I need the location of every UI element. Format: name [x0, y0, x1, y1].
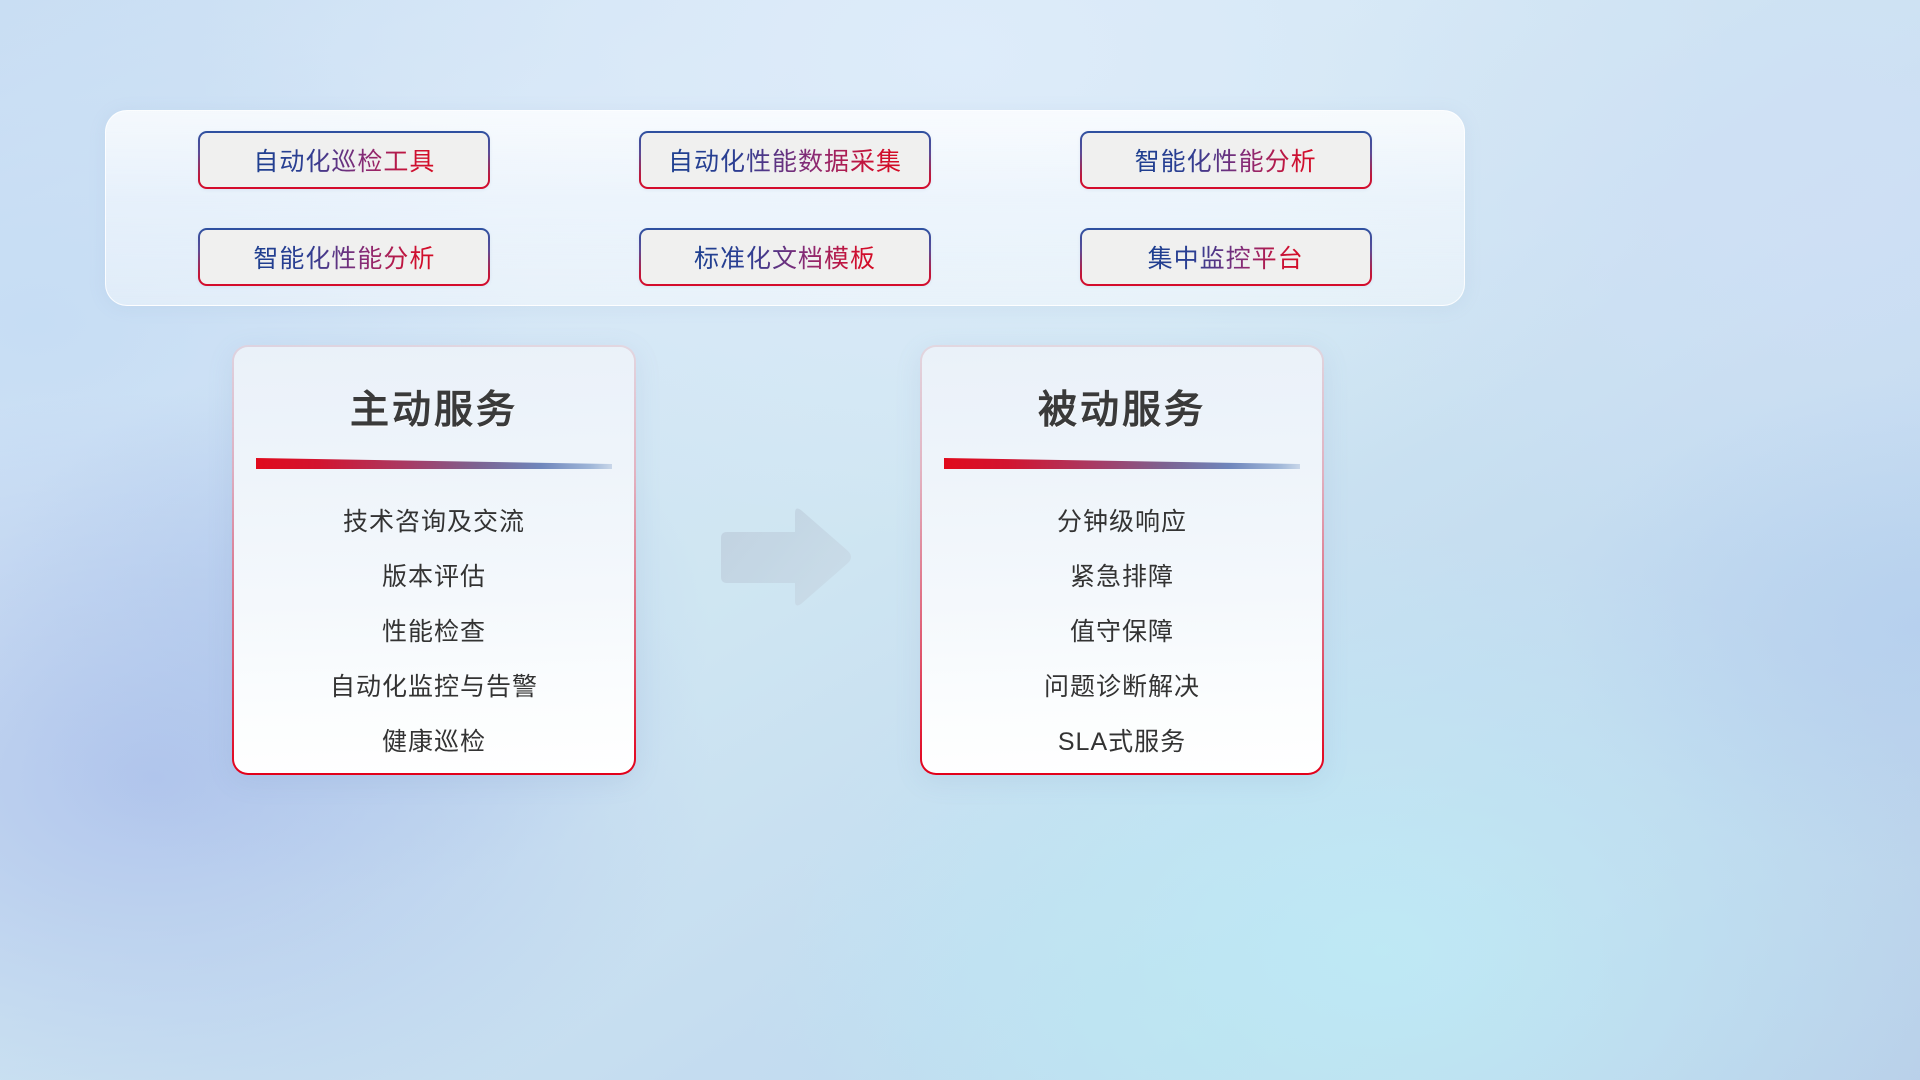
divider-bar — [944, 458, 1300, 469]
active-service-list: 技术咨询及交流 版本评估 性能检查 自动化监控与告警 健康巡检 — [234, 495, 634, 770]
list-item[interactable]: 性能检查 — [382, 605, 486, 660]
list-item[interactable]: 版本评估 — [382, 550, 486, 605]
list-item[interactable]: 紧急排障 — [1070, 550, 1174, 605]
capability-panel: 自动化巡检工具 自动化性能数据采集 智能化性能分析 智能化性能分析 标准化文档模… — [105, 110, 1465, 306]
arrow-right-icon — [715, 505, 855, 610]
capability-pill[interactable]: 自动化巡检工具 — [198, 131, 490, 189]
active-service-card: 主动服务 技术咨询及交流 版本评估 性能检查 自动化监控与告警 健康巡检 — [232, 345, 636, 775]
title-divider — [256, 458, 612, 469]
capability-pill[interactable]: 标准化文档模板 — [639, 228, 931, 286]
capability-pill-label: 智能化性能分析 — [1135, 142, 1317, 178]
list-item[interactable]: SLA式服务 — [1058, 715, 1186, 770]
capability-pill[interactable]: 自动化性能数据采集 — [639, 131, 931, 189]
list-item[interactable]: 值守保障 — [1070, 605, 1174, 660]
capability-pill-label: 自动化性能数据采集 — [668, 142, 902, 178]
capability-pill-label: 标准化文档模板 — [694, 239, 876, 275]
title-divider — [944, 458, 1300, 469]
list-item[interactable]: 问题诊断解决 — [1044, 660, 1200, 715]
capability-pill-label: 集中监控平台 — [1148, 239, 1304, 275]
capability-pill-label: 智能化性能分析 — [253, 239, 435, 275]
slide-canvas: 自动化巡检工具 自动化性能数据采集 智能化性能分析 智能化性能分析 标准化文档模… — [0, 0, 1920, 1080]
list-item[interactable]: 分钟级响应 — [1057, 495, 1187, 550]
capability-pill-label: 自动化巡检工具 — [253, 142, 435, 178]
capability-pill[interactable]: 智能化性能分析 — [198, 228, 490, 286]
active-service-title: 主动服务 — [350, 379, 518, 435]
list-item[interactable]: 技术咨询及交流 — [343, 495, 525, 550]
passive-service-card: 被动服务 分钟级响应 紧急排障 值守保障 问题诊断解决 SLA式服务 — [920, 345, 1324, 775]
list-item[interactable]: 自动化监控与告警 — [330, 660, 538, 715]
capability-pill[interactable]: 集中监控平台 — [1080, 228, 1372, 286]
passive-service-title: 被动服务 — [1038, 379, 1206, 435]
passive-service-list: 分钟级响应 紧急排障 值守保障 问题诊断解决 SLA式服务 — [922, 495, 1322, 770]
divider-bar — [256, 458, 612, 469]
list-item[interactable]: 健康巡检 — [382, 715, 486, 770]
capability-pill[interactable]: 智能化性能分析 — [1080, 131, 1372, 189]
